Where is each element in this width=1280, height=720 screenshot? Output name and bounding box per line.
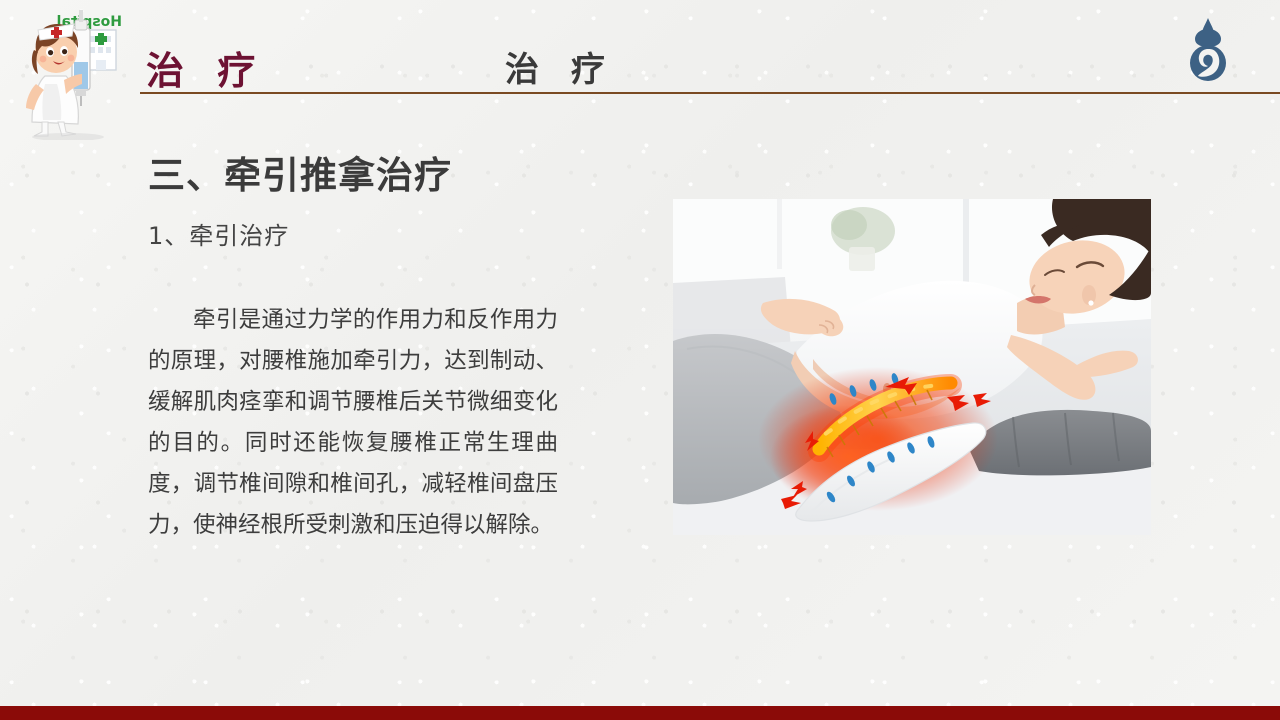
section-subheading: 1、牵引治疗 (148, 216, 289, 251)
slide-header: Hospital (0, 0, 1280, 96)
nurse-figure (26, 24, 82, 136)
header-divider-rule (140, 92, 1280, 94)
nurse-mascot-logo: Hospital (12, 4, 130, 140)
traction-therapy-illustration (673, 199, 1151, 535)
traction-therapy-photo (673, 199, 1151, 535)
page-title: 三、牵引推拿治疗 (148, 145, 452, 199)
presentation-slide: Hospital (0, 0, 1280, 720)
header-title-center: 治 疗 (505, 42, 615, 91)
footer-bar (0, 706, 1280, 720)
body-paragraph: 牵引是通过力学的作用力和反作用力的原理，对腰椎施加牵引力，达到制动、缓解肌肉痉挛… (148, 300, 558, 546)
header-title-left: 治 疗 (146, 40, 265, 95)
gourd-logo-icon (1182, 16, 1234, 82)
